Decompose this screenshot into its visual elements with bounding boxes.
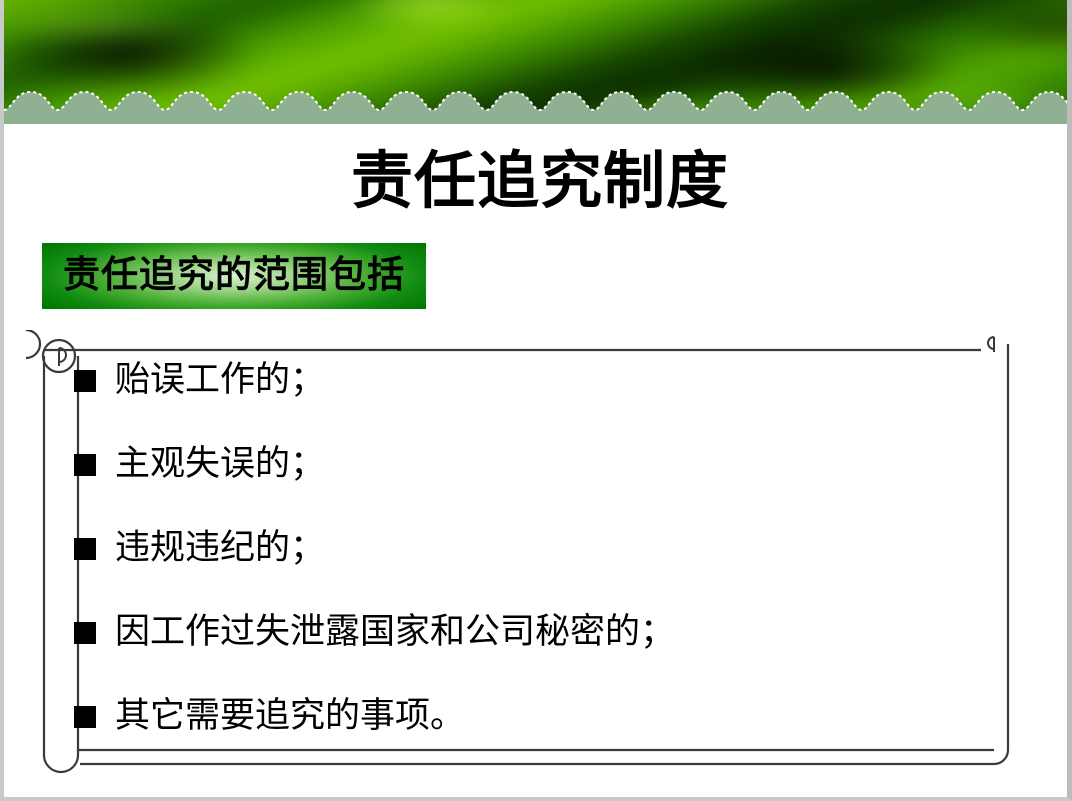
black-square-bullet-icon [74,538,96,560]
subtitle-text: 责任追究的范围包括 [63,256,405,296]
black-square-bullet-icon [74,622,96,644]
list-item: 贻误工作的； [74,358,1034,442]
black-square-bullet-icon [74,706,96,728]
list-item: 其它需要追究的事项。 [74,694,1034,778]
list-item: 因工作过失泄露国家和公司秘密的； [74,610,1034,694]
bullet-list: 贻误工作的； 主观失误的； 违规违纪的； 因工作过失泄露国家和公司秘密的； 其它… [74,358,1034,778]
list-item-label: 其它需要追究的事项。 [115,694,465,738]
black-square-bullet-icon [74,370,96,392]
slide: 责任追究制度 责任追究的范围包括 贻误工作的； [0,0,1072,801]
slide-title: 责任追究制度 [4,146,1072,218]
list-item-label: 主观失误的； [115,442,325,486]
black-square-bullet-icon [74,454,96,476]
list-item-label: 贻误工作的； [115,358,325,402]
list-item: 违规违纪的； [74,526,1034,610]
subtitle-plate: 责任追究的范围包括 [42,243,426,309]
scalloped-band [4,84,1072,124]
banner-header [4,0,1072,124]
list-item: 主观失误的； [74,442,1034,526]
list-item-label: 违规违纪的； [115,526,325,570]
list-item-label: 因工作过失泄露国家和公司秘密的； [115,610,675,654]
